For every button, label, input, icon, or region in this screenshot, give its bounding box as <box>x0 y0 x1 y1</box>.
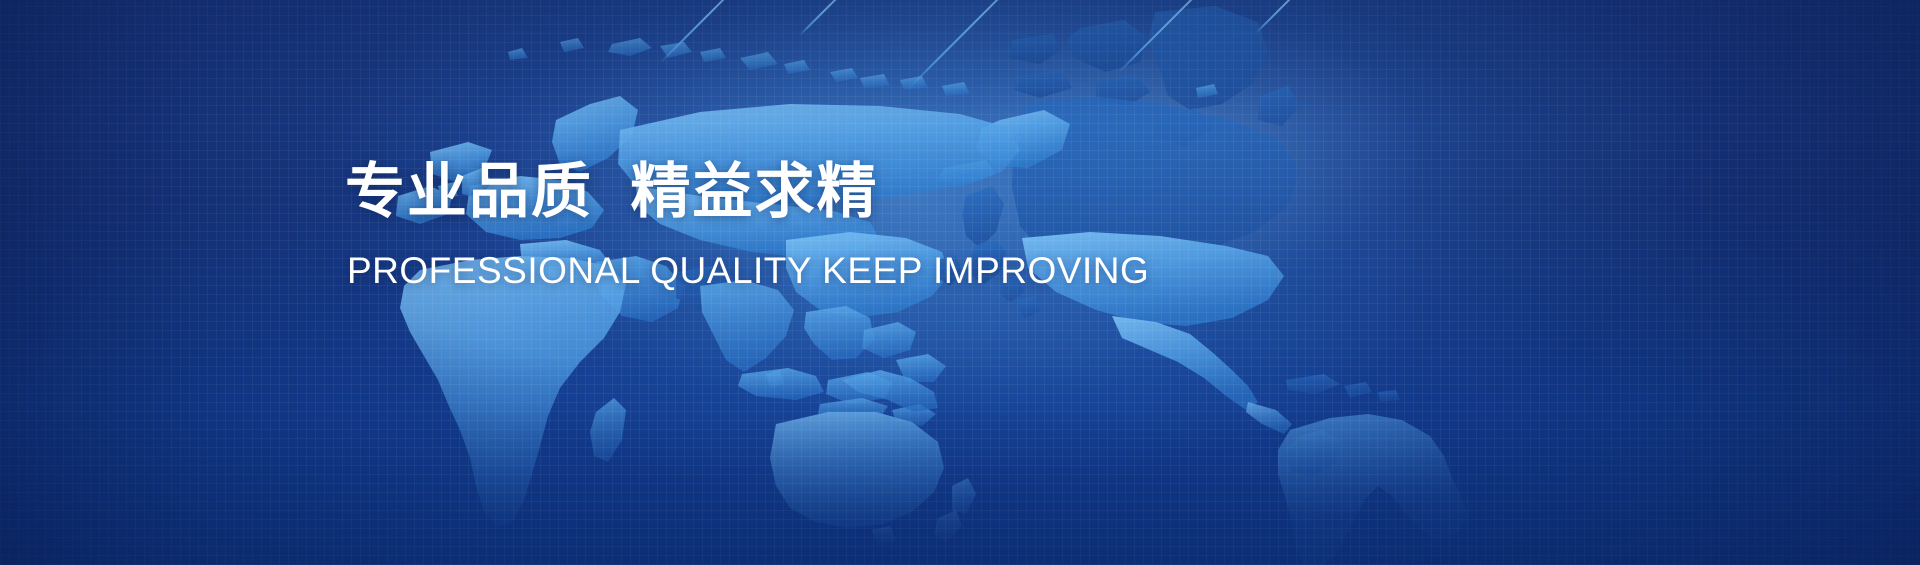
banner-text-block: 专业品质 精益求精 PROFESSIONAL QUALITY KEEP IMPR… <box>345 160 1445 291</box>
banner-headline-chinese: 专业品质 精益求精 <box>345 160 1445 225</box>
hero-banner: 专业品质 精益求精 PROFESSIONAL QUALITY KEEP IMPR… <box>0 0 1920 565</box>
banner-subline-english: PROFESSIONAL QUALITY KEEP IMPROVING <box>347 251 1445 292</box>
